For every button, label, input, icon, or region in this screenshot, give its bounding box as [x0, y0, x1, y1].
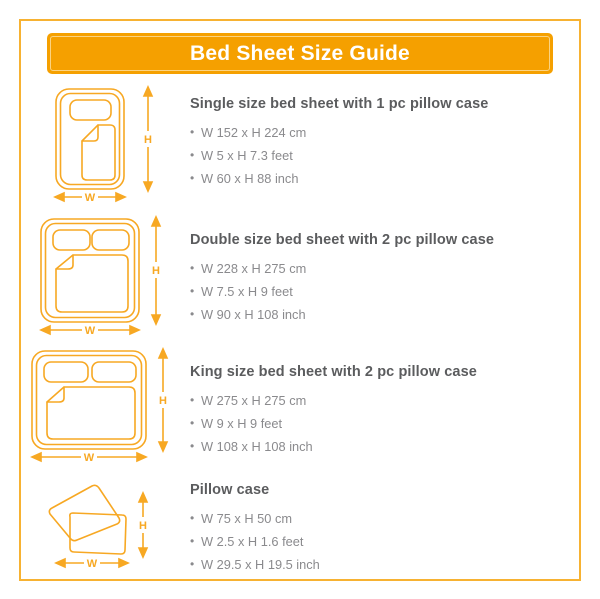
section-heading-king: King size bed sheet with 2 pc pillow cas… [190, 364, 580, 380]
spec-item: W 7.5 x H 9 feet [190, 280, 580, 303]
spec-item: W 228 x H 275 cm [190, 257, 580, 280]
height-label: H [144, 134, 152, 146]
spec-item: W 29.5 x H 19.5 inch [190, 553, 580, 576]
section-heading-double: Double size bed sheet with 2 pc pillow c… [190, 232, 580, 248]
height-label: H [159, 395, 167, 407]
king-bed-text-block: King size bed sheet with 2 pc pillow cas… [190, 346, 580, 458]
section-heading-single: Single size bed sheet with 1 pc pillow c… [190, 96, 580, 112]
spec-item: W 75 x H 50 cm [190, 507, 580, 530]
single-bed-text-block: Single size bed sheet with 1 pc pillow c… [190, 84, 580, 190]
pillow-case-diagram: H W [30, 474, 180, 574]
height-label: H [139, 520, 147, 532]
single-bed-figure: H W [20, 84, 190, 204]
section-heading-pillow: Pillow case [190, 482, 580, 498]
double-bed-diagram: H W [30, 214, 180, 339]
spec-item: W 108 x H 108 inch [190, 435, 580, 458]
king-bed-figure: H W [20, 346, 190, 468]
spec-item: W 2.5 x H 1.6 feet [190, 530, 580, 553]
spec-list-single: W 152 x H 224 cm W 5 x H 7.3 feet W 60 x… [190, 121, 580, 190]
width-label: W [85, 192, 96, 204]
title-banner: Bed Sheet Size Guide [47, 33, 553, 74]
king-bed-diagram: H W [28, 346, 183, 468]
spec-item: W 90 x H 108 inch [190, 303, 580, 326]
spec-item: W 5 x H 7.3 feet [190, 144, 580, 167]
double-bed-figure: H W [20, 214, 190, 339]
size-section-pillow: H W Pillow case W 75 x H 50 cm W 2.5 x H… [20, 474, 580, 584]
bed-sheet-size-guide-infographic: Bed Sheet Size Guide [0, 0, 600, 599]
spec-item: W 9 x H 9 feet [190, 412, 580, 435]
spec-item: W 275 x H 275 cm [190, 389, 580, 412]
width-label: W [85, 325, 96, 337]
size-section-single: H W Single size bed sheet with 1 pc pill… [20, 84, 580, 214]
pillow-case-figure: H W [20, 474, 190, 574]
spec-list-double: W 228 x H 275 cm W 7.5 x H 9 feet W 90 x… [190, 257, 580, 326]
size-sections-list: H W Single size bed sheet with 1 pc pill… [20, 84, 580, 584]
spec-list-king: W 275 x H 275 cm W 9 x H 9 feet W 108 x … [190, 389, 580, 458]
size-section-king: H W King size bed sheet with 2 pc pillow… [20, 346, 580, 474]
width-label: W [83, 452, 94, 464]
page-title: Bed Sheet Size Guide [190, 42, 410, 66]
spec-list-pillow: W 75 x H 50 cm W 2.5 x H 1.6 feet W 29.5… [190, 507, 580, 576]
size-section-double: H W Double size bed sheet with 2 pc pill… [20, 214, 580, 346]
pillow-case-text-block: Pillow case W 75 x H 50 cm W 2.5 x H 1.6… [190, 474, 580, 576]
spec-item: W 152 x H 224 cm [190, 121, 580, 144]
width-label: W [87, 558, 98, 570]
double-bed-text-block: Double size bed sheet with 2 pc pillow c… [190, 214, 580, 326]
spec-item: W 60 x H 88 inch [190, 167, 580, 190]
height-label: H [152, 265, 160, 277]
single-bed-diagram: H W [30, 84, 180, 204]
